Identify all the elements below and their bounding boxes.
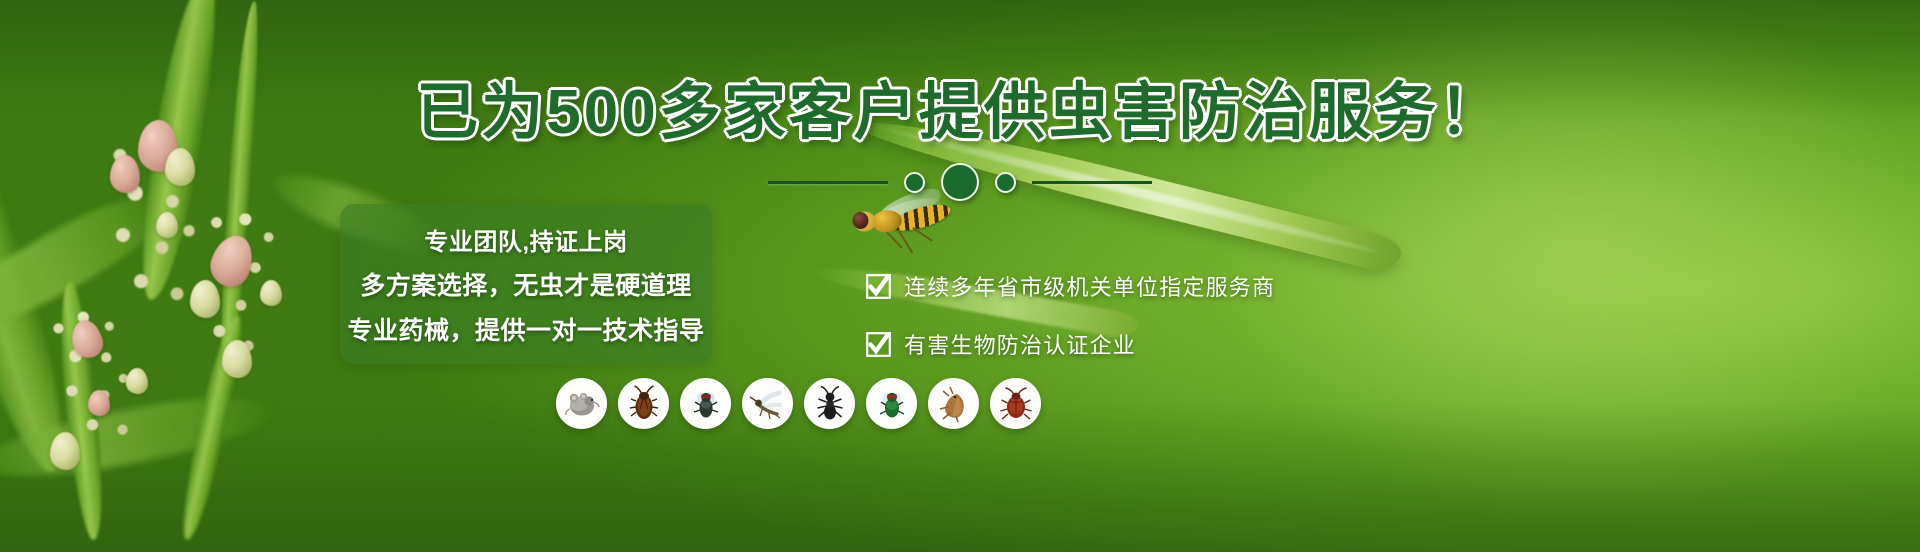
feature-line-1: 专业团队,持证上岗 <box>424 222 627 257</box>
checkbox-checked-icon <box>866 332 891 357</box>
divider-rule-left <box>768 181 888 184</box>
divider-small-dot-right <box>995 172 1016 193</box>
credential-text-1: 连续多年省市级机关单位指定服务商 <box>904 270 1275 302</box>
divider-small-dot-left <box>904 172 925 193</box>
divider-rule-right <box>1032 181 1152 184</box>
flea-icon[interactable] <box>928 378 979 429</box>
feature-line-3: 专业药械，提供一对一技术指导 <box>347 311 704 347</box>
credential-bullet-2: 有害生物防治认证企业 <box>866 328 1275 360</box>
housefly-icon[interactable] <box>680 378 731 429</box>
feature-highlight-box: 专业团队,持证上岗 多方案选择，无虫才是硬道理 专业药械，提供一对一技术指导 <box>340 204 712 364</box>
divider-large-dot <box>941 163 979 201</box>
mosquito-icon[interactable] <box>742 378 793 429</box>
promo-banner: 已为500多家客户提供虫害防治服务！ 专业团队,持证上岗 多方案选择，无虫才是硬… <box>0 0 1920 552</box>
banner-headline: 已为500多家客户提供虫害防治服务！ <box>0 78 1920 148</box>
credential-bullet-list: 连续多年省市级机关单位指定服务商 有害生物防治认证企业 <box>866 270 1275 360</box>
ant-icon[interactable] <box>804 378 855 429</box>
checkbox-checked-icon <box>866 274 891 299</box>
credential-text-2: 有害生物防治认证企业 <box>904 328 1136 360</box>
feature-line-2: 多方案选择，无虫才是硬道理 <box>360 266 692 302</box>
cockroach-icon[interactable] <box>618 378 669 429</box>
rodent-icon[interactable] <box>556 378 607 429</box>
pest-type-icon-row <box>556 378 1041 429</box>
decorative-divider <box>0 162 1920 202</box>
credential-bullet-1: 连续多年省市级机关单位指定服务商 <box>866 270 1275 302</box>
bedbug-icon[interactable] <box>990 378 1041 429</box>
greenbottle-fly-icon[interactable] <box>866 378 917 429</box>
